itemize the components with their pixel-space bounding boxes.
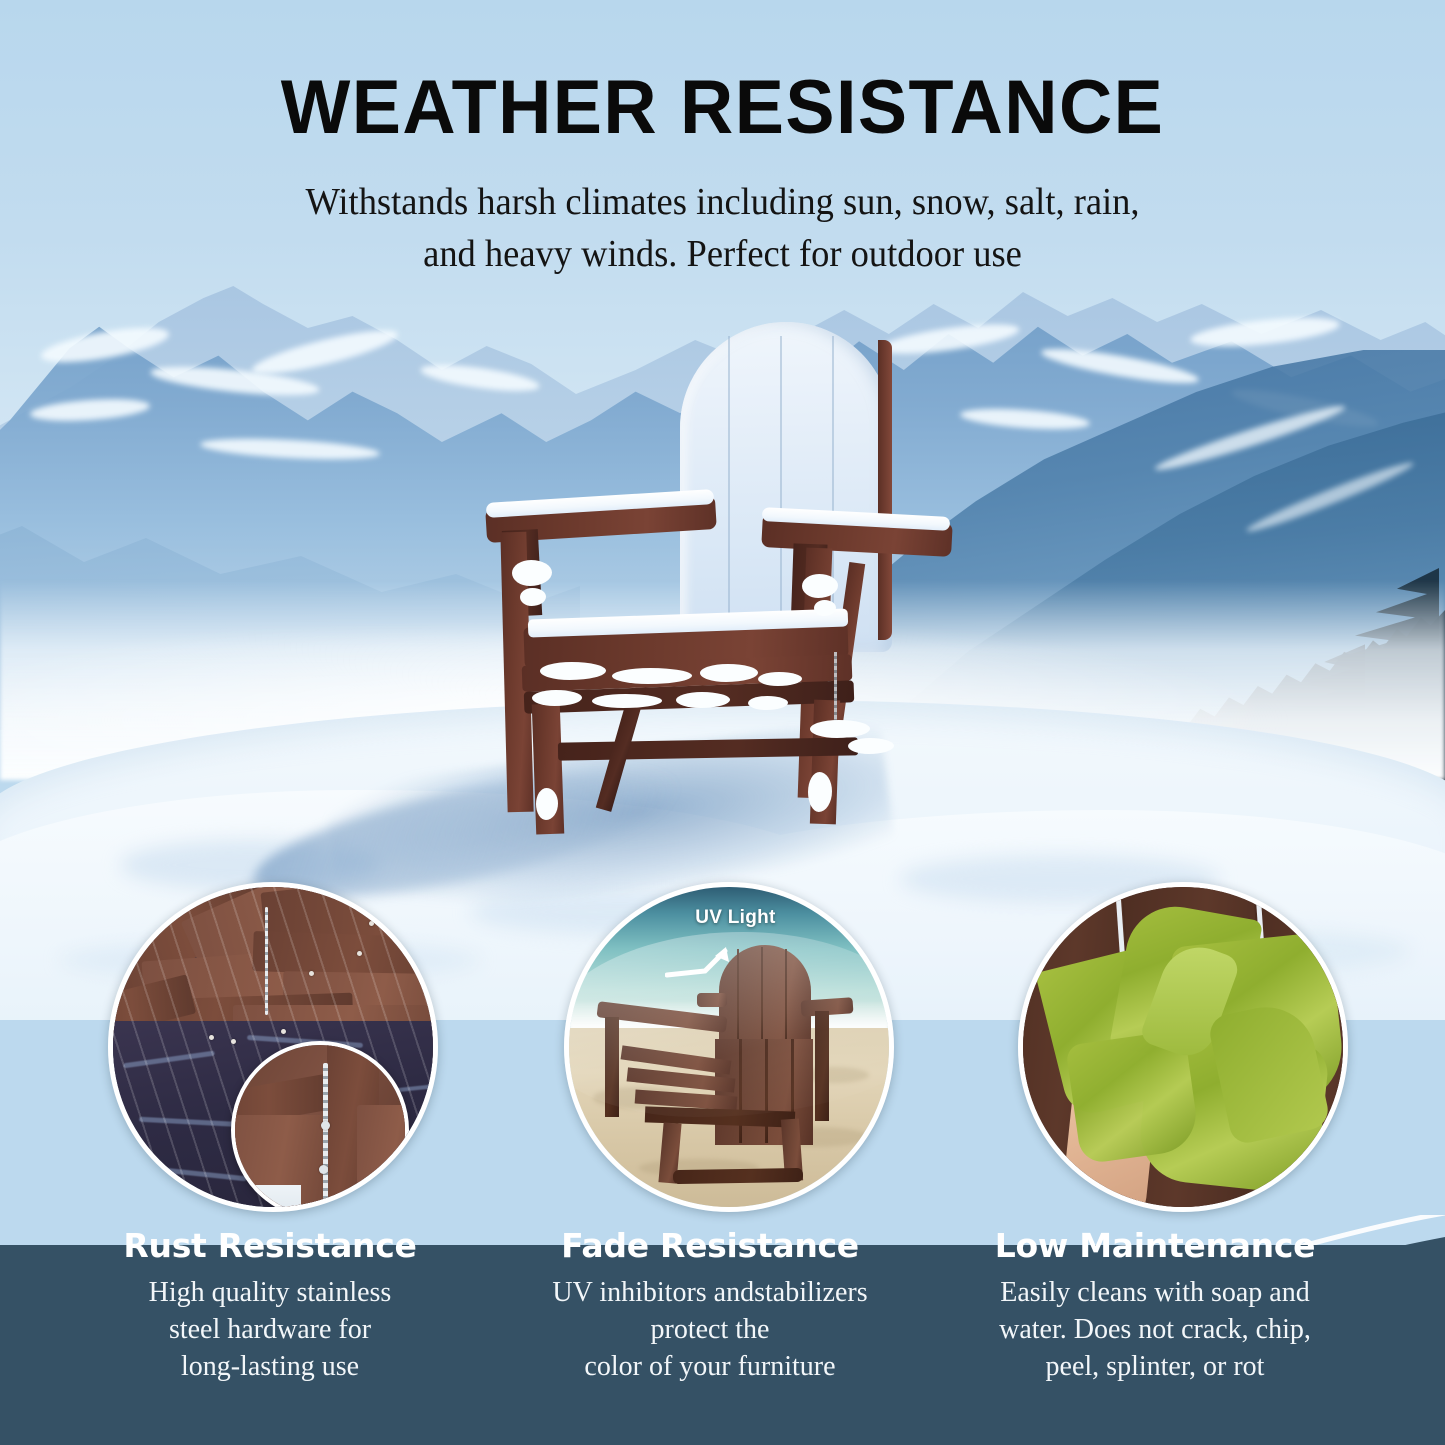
feature-body-rust-resistance: High quality stainless steel hardware fo…: [55, 1274, 485, 1385]
feature-image-fade-resistance: UV Light: [564, 882, 894, 1212]
feature-block-rust-resistance: Rust Resistance High quality stainless s…: [55, 1228, 485, 1385]
snow-patch: [810, 720, 870, 738]
uv-light-label: UV Light: [695, 907, 776, 929]
uv-arrow-icon: [665, 945, 741, 981]
chair-chain: [834, 652, 837, 722]
feature-body-line-3: color of your furniture: [584, 1351, 835, 1382]
page-subtitle-line-1: Withstands harsh climates including sun,…: [29, 176, 1416, 228]
snow-patch: [848, 738, 894, 754]
feature-body-line-2: steel hardware for: [169, 1314, 371, 1345]
snow-patch: [520, 588, 546, 606]
feature-body-line-1: Easily cleans with soap and: [1000, 1277, 1309, 1308]
feature-block-low-maintenance: Low Maintenance Easily cleans with soap …: [940, 1228, 1370, 1385]
snow-patch: [512, 560, 552, 586]
feature-title-rust-resistance: Rust Resistance: [55, 1228, 485, 1264]
page-title: WEATHER RESISTANCE: [22, 70, 1424, 146]
feature-title-fade-resistance: Fade Resistance: [495, 1228, 925, 1264]
page-subtitle-line-2: and heavy winds. Perfect for outdoor use: [29, 228, 1416, 280]
feature-image-rust-resistance: [108, 882, 438, 1212]
feature-block-fade-resistance: Fade Resistance UV inhibitors andstabili…: [495, 1228, 925, 1385]
feature-body-line-3: peel, splinter, or rot: [1046, 1351, 1265, 1382]
inset-image-stainless-chain: [231, 1041, 409, 1212]
feature-body-line-2: water. Does not crack, chip,: [999, 1314, 1311, 1345]
feature-image-low-maintenance: [1018, 882, 1348, 1212]
chair-backrest: [680, 322, 892, 652]
feature-title-low-maintenance: Low Maintenance: [940, 1228, 1370, 1264]
hero-chair-image: [462, 322, 932, 832]
feature-body-line-3: long-lasting use: [181, 1351, 359, 1382]
feature-body-line-1: UV inhibitors andstabilizers: [552, 1277, 867, 1308]
feature-body-low-maintenance: Easily cleans with soap and water. Does …: [940, 1274, 1370, 1385]
feature-body-line-1: High quality stainless: [149, 1277, 392, 1308]
page-subtitle: Withstands harsh climates including sun,…: [29, 176, 1416, 280]
feature-body-line-2: protect the: [651, 1314, 770, 1345]
chair-backrest-edge: [878, 340, 892, 640]
feature-body-fade-resistance: UV inhibitors andstabilizers protect the…: [495, 1274, 925, 1385]
snow-patch: [748, 696, 788, 710]
infographic-page: UV Light WEATHER: [0, 0, 1445, 1445]
